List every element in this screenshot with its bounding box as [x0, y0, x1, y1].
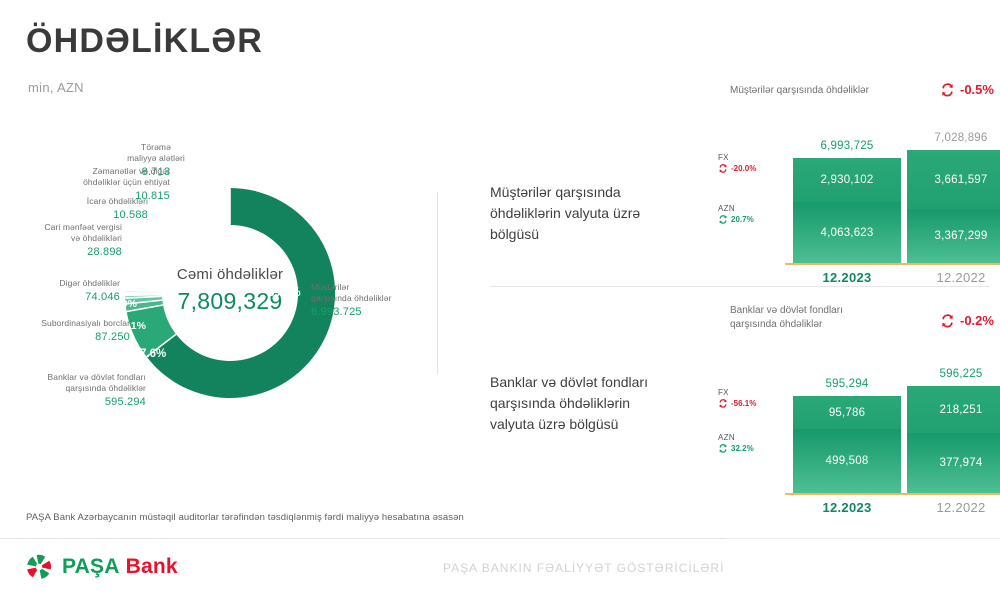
label-name-line2: öhdəliklər üçün ehtiyat [48, 177, 170, 188]
label-value: 87.250 [2, 331, 130, 343]
label-value: 10.588 [40, 209, 148, 221]
donut-pct-musterilar: 89.6% [268, 287, 301, 299]
label-name-line1: Subordinasiyalı borclar [2, 318, 130, 329]
liabilities-donut-chart: Cəmi öhdəliklər 7,809,329 89.6% 7.6% 1.1… [125, 188, 335, 398]
refresh-arrow-icon [940, 83, 955, 97]
row-key-azn-label: AZN [718, 433, 754, 442]
refresh-arrow-icon [718, 444, 728, 453]
donut-label-icare: İcarə öhdəlikləri 10.588 [40, 196, 148, 221]
label-name-line1: Digər öhdəliklər [12, 278, 120, 289]
label-name-line1: Cari mənfəət vergisi [10, 222, 122, 233]
label-name-line1: Törəmə [116, 142, 196, 153]
footer-center-text: PAŞA BANKIN FƏALİYYƏT GÖSTƏRİCİLƏRİ [443, 561, 724, 575]
row-key-azn-delta-value: 32.2% [731, 444, 754, 453]
donut-center-label: Cəmi öhdəliklər [125, 266, 335, 283]
panel1-desc-line1: Müştərilər qarşısında [490, 182, 705, 203]
chart-banklar-valyuta: FX -56.1% AZN 32.2% [715, 360, 990, 510]
panel2-heading: Banklar və dövlət fondları qarşısında öh… [730, 304, 920, 332]
panel1-description: Müştərilər qarşısında öhdəliklərin valyu… [490, 182, 705, 245]
panel2-desc-line2: qarşısında öhdəliklərin [490, 393, 705, 414]
panel2-heading-line1: Banklar və dövlət fondları [730, 304, 920, 318]
row-key-fx-label: FX [718, 153, 756, 162]
panel1-delta-value: -0.5% [960, 82, 994, 97]
horizontal-divider [490, 286, 990, 287]
donut-pct-toreme: 0.1% [183, 221, 207, 233]
bar2-total-current: 595,294 [793, 378, 901, 390]
donut-pct-icare: 0.1% [130, 250, 154, 262]
refresh-arrow-icon [718, 399, 728, 408]
footer-divider-right [725, 538, 1000, 539]
liabilities-infographic: ÖHDƏLİKLƏR min, AZN [0, 0, 1000, 598]
label-value: 28.898 [10, 246, 122, 258]
label-name-line1: İcarə öhdəlikləri [40, 196, 148, 207]
label-value: 74.046 [12, 291, 120, 303]
panel1-desc-line2: öhdəliklərin valyuta üzrə [490, 203, 705, 224]
donut-pct-zemanet: 0.1% [154, 232, 178, 244]
label-value: 595.294 [8, 396, 146, 408]
bar-seg-fx-2022: 3,661,597 [907, 150, 1000, 209]
row-key-fx-1: FX -20.0% [718, 153, 756, 173]
donut-label-diger: Digər öhdəliklər 74.046 [12, 278, 120, 303]
panel1-desc-line3: bölgüsü [490, 224, 705, 245]
bar-seg-azn-2022: 3,367,299 [907, 209, 1000, 263]
row-key-fx-2: FX -56.1% [718, 388, 756, 408]
bar1-total-previous: 7,028,896 [907, 132, 1000, 144]
bar-12-2023-musterilar[interactable]: 2,930,102 4,063,623 [793, 158, 901, 263]
bar-seg-fx-2022: 218,251 [907, 386, 1000, 433]
panel2-delta-value: -0.2% [960, 313, 994, 328]
donut-label-subordinasiya: Subordinasiyalı borclar 87.250 [2, 318, 130, 343]
bar2-xlabel-current: 12.2023 [793, 500, 901, 515]
bar1-total-current: 6,993,725 [793, 140, 901, 152]
bar-12-2022-banklar[interactable]: 218,251 377,974 [907, 386, 1000, 493]
panel1-delta-badge: -0.5% [940, 82, 994, 97]
row-key-azn-1: AZN 20.7% [718, 204, 754, 224]
label-name-line2: qarşısında öhdəliklər [311, 293, 421, 304]
label-name-line2: maliyyə alətləri [116, 153, 196, 164]
panel2-desc-line3: valyuta üzrə bölgüsü [490, 414, 705, 435]
chart1-axis-line [785, 263, 1000, 265]
bar1-xlabel-current: 12.2023 [793, 270, 901, 285]
logo-text-bank: Bank [126, 555, 178, 578]
bar2-total-previous: 596,225 [907, 368, 1000, 380]
panel2-description: Banklar və dövlət fondları qarşısında öh… [490, 372, 705, 435]
page-subtitle: min, AZN [28, 80, 84, 95]
bar-seg-azn-2022: 377,974 [907, 433, 1000, 493]
donut-label-vergi: Cari mənfəət vergisi və öhdəlikləri 28.8… [10, 222, 122, 258]
logo-text: PAŞA Bank [62, 555, 178, 579]
bar-12-2022-musterilar[interactable]: 3,661,597 3,367,299 [907, 150, 1000, 263]
refresh-arrow-icon [718, 215, 728, 224]
pinwheel-logo-icon [24, 552, 54, 582]
panel2-desc-line1: Banklar və dövlət fondları [490, 372, 705, 393]
label-name-line1: Müştərilər [311, 282, 421, 293]
bar-12-2023-banklar[interactable]: 95,786 499,508 [793, 396, 901, 493]
row-key-fx-delta-value: -56.1% [731, 399, 756, 408]
chart-musterilar-valyuta: FX -20.0% AZN 20.7% [715, 128, 990, 278]
refresh-arrow-icon [940, 314, 955, 328]
chart2-axis-line [785, 493, 1000, 495]
donut-center-value: 7,809,329 [125, 288, 335, 315]
row-key-azn-delta-value: 20.7% [731, 215, 754, 224]
bar-seg-azn-2023: 4,063,623 [793, 202, 901, 263]
label-name-line1: Zəmanətlər və digər [48, 166, 170, 177]
label-name-line2: və öhdəlikləri [10, 233, 122, 244]
donut-label-musterilar: Müştərilər qarşısında öhdəliklər 6.993.7… [311, 282, 421, 318]
bar-seg-fx-2023: 2,930,102 [793, 158, 901, 202]
label-name-line2: qarşısında öhdəliklər [8, 383, 146, 394]
label-name-line1: Banklar və dövlət fondları [8, 372, 146, 383]
pasha-bank-logo: PAŞA Bank [24, 552, 178, 582]
footer-divider [0, 538, 725, 539]
bar-seg-fx-2023: 95,786 [793, 396, 901, 429]
row-key-fx-label: FX [718, 388, 756, 397]
label-value: 6.993.725 [311, 306, 421, 318]
row-key-azn-2: AZN 32.2% [718, 433, 754, 453]
row-key-azn-label: AZN [718, 204, 754, 213]
logo-text-pasa: PAŞA [62, 555, 120, 578]
row-key-fx-delta-value: -20.0% [731, 164, 756, 173]
row-key-fx-delta: -20.0% [718, 164, 756, 173]
bar2-xlabel-previous: 12.2022 [907, 500, 1000, 515]
vertical-divider [437, 192, 438, 374]
footnote: PAŞA Bank Azərbaycanın müstəqil auditorl… [26, 512, 464, 523]
row-key-fx-delta: -56.1% [718, 399, 756, 408]
refresh-arrow-icon [718, 164, 728, 173]
donut-pct-banklar: 7.6% [140, 348, 166, 360]
panel1-heading-line1: Müştərilər qarşısında öhdəliklər [730, 84, 920, 98]
panel2-heading-line2: qarşısında öhdəliklər [730, 318, 920, 332]
panel2-delta-badge: -0.2% [940, 313, 994, 328]
panel1-heading: Müştərilər qarşısında öhdəliklər [730, 84, 920, 98]
row-key-azn-delta: 32.2% [718, 444, 754, 453]
row-key-azn-delta: 20.7% [718, 215, 754, 224]
donut-label-banklar: Banklar və dövlət fondları qarşısında öh… [8, 372, 146, 408]
bar1-xlabel-previous: 12.2022 [907, 270, 1000, 285]
page-title: ÖHDƏLİKLƏR [26, 22, 263, 61]
bar-seg-azn-2023: 499,508 [793, 429, 901, 493]
